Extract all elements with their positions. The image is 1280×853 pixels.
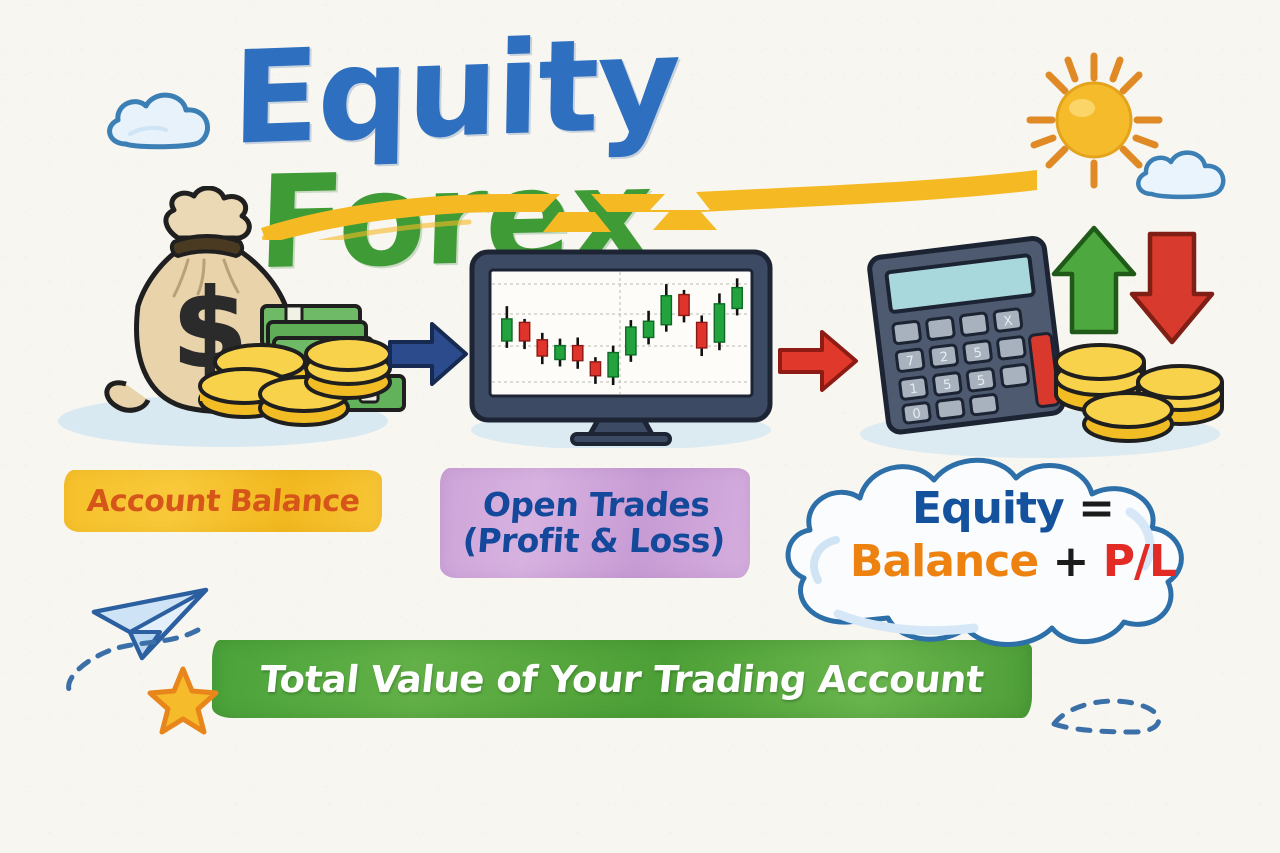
candle-body-up — [661, 296, 671, 325]
label-account-balance: Account Balance — [64, 470, 382, 532]
infographic-canvas: EquityForex $ — [0, 0, 1280, 853]
formula-line-2: Balance + P/L — [778, 539, 1248, 586]
cloud-top-right — [1126, 140, 1238, 208]
open-trades-text: Open Trades (Profit & Loss) — [462, 487, 729, 558]
candle-body-down — [697, 322, 707, 348]
star-icon — [146, 664, 220, 736]
total-value-text: Total Value of Your Trading Account — [258, 658, 986, 701]
formula-plus: + — [1053, 536, 1089, 587]
formula-equity: Equity — [912, 483, 1064, 534]
candle-body-down — [679, 295, 689, 316]
candle-body-down — [590, 362, 600, 376]
formula-balance: Balance — [850, 536, 1038, 587]
candle-body-up — [643, 321, 653, 337]
label-open-trades: Open Trades (Profit & Loss) — [440, 468, 750, 578]
candle-body-up — [732, 288, 742, 309]
arrow-down-icon — [1132, 234, 1212, 342]
formula-cloud-bubble: Equity = Balance + P/L — [778, 452, 1248, 652]
dashed-trail-right — [1026, 672, 1186, 742]
arrow-chart-to-calculator — [776, 326, 860, 396]
formula-text: Equity = Balance + P/L — [778, 486, 1248, 585]
candle-body-down — [537, 340, 547, 356]
monitor-with-chart — [468, 248, 774, 448]
formula-equals: = — [1078, 483, 1114, 534]
candle-body-up — [714, 304, 724, 342]
candle-body-up — [502, 319, 512, 341]
candle-body-down — [573, 346, 583, 361]
cloud-top-left — [96, 82, 226, 160]
candle-body-up — [555, 346, 565, 360]
formula-line-1: Equity = — [778, 486, 1248, 533]
calculator-illustration: 72 5 15 5 0 X — [850, 212, 1242, 458]
candle-body-down — [519, 322, 529, 341]
account-balance-text: Account Balance — [85, 484, 361, 519]
candle-body-up — [626, 327, 636, 355]
arrow-money-to-chart — [386, 318, 470, 390]
candle-body-up — [608, 353, 618, 377]
money-bag-illustration: $ — [48, 186, 408, 452]
arrow-up-icon — [1054, 228, 1134, 332]
formula-pl: P/L — [1103, 536, 1176, 587]
